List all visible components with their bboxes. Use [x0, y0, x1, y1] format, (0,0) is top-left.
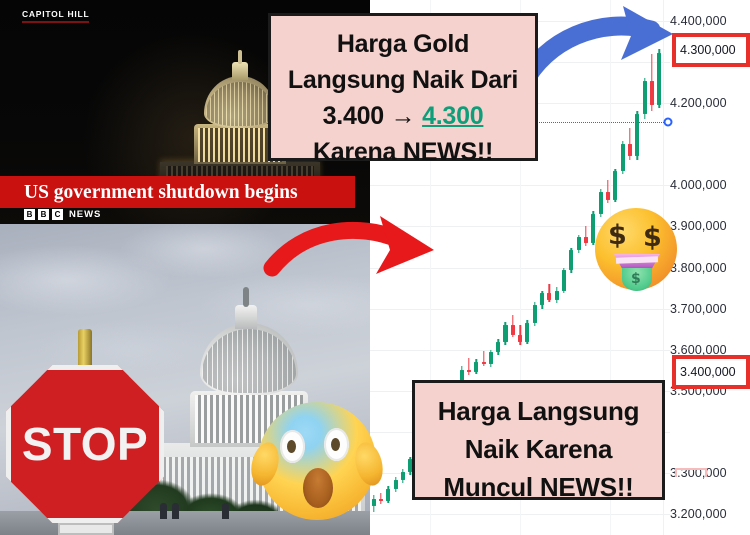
bottom-callout-box: Harga Langsung Naik Karena Muncul NEWS!!: [412, 380, 665, 500]
candle-body: [547, 293, 551, 300]
candle: [474, 359, 478, 375]
candle-body: [533, 305, 537, 323]
y-axis-tick-label: 3.900,000: [670, 219, 727, 233]
candle-body: [394, 480, 398, 489]
candle: [628, 128, 632, 161]
candle: [621, 141, 625, 175]
bbc-letter-b1: B: [24, 209, 35, 220]
bbc-letter-b2: B: [38, 209, 49, 220]
highlight-box-3400[interactable]: 3.400,000: [672, 355, 750, 389]
candle-body: [606, 192, 610, 200]
candle-body: [489, 352, 493, 364]
candle: [518, 325, 522, 345]
candle-body: [525, 323, 529, 342]
stop-sign: STOP: [6, 329, 164, 529]
candle-body: [613, 171, 617, 200]
candle: [401, 469, 405, 483]
stop-sign-base: [58, 523, 114, 535]
candle-body: [628, 144, 632, 156]
price-to: 4.300: [422, 102, 483, 130]
candle: [511, 315, 515, 337]
candle-body: [584, 237, 588, 243]
highlight-box-4300[interactable]: 4.300,000: [672, 33, 750, 67]
bbc-news-word: NEWS: [69, 209, 101, 220]
candle: [503, 322, 507, 345]
candle-body: [503, 325, 507, 341]
candle: [540, 291, 544, 309]
candle-body: [643, 81, 647, 114]
candle: [562, 268, 566, 294]
news-headline: US government shutdown begins: [24, 180, 354, 206]
bottom-callout-line3: Muncul NEWS!!: [421, 468, 656, 506]
candle-body: [474, 362, 478, 372]
poster-canvas: CAPITOL HILL US government shutdown begi…: [0, 0, 750, 535]
candle: [496, 339, 500, 355]
candle: [533, 302, 537, 326]
location-tag: CAPITOL HILL: [22, 9, 89, 23]
candle: [467, 358, 471, 375]
candle-body: [467, 370, 471, 372]
candle: [386, 486, 390, 502]
candle-body: [518, 335, 522, 342]
candle: [584, 226, 588, 247]
candle: [555, 287, 559, 303]
candle-body: [496, 342, 500, 353]
candle-body: [650, 81, 654, 104]
candle: [482, 351, 486, 366]
candle-body: [379, 499, 383, 501]
bbc-letter-c: C: [52, 209, 63, 220]
top-callout-line3: 3.400 → 4.300: [279, 98, 527, 134]
y-axis-tick-label: 4.200,000: [670, 96, 727, 110]
y-axis-tick-label: 3.700,000: [670, 302, 727, 316]
y-axis-tick-label: 3.800,000: [670, 261, 727, 275]
candle-body: [386, 489, 390, 501]
price-from: 3.400: [323, 102, 391, 130]
candle-body: [657, 53, 661, 105]
top-callout-line2: Langsung Naik Dari: [279, 62, 527, 98]
candle: [606, 180, 610, 203]
candle-body: [511, 325, 515, 335]
price-marker-dot-right[interactable]: [664, 118, 673, 127]
top-callout-box: Harga Gold Langsung Naik Dari 3.400 → 4.…: [268, 13, 538, 161]
candle: [489, 350, 493, 367]
candle-wick: [483, 351, 484, 366]
candle-wick: [468, 358, 469, 375]
candle: [379, 493, 383, 504]
candle-body: [401, 472, 405, 479]
candle-wick: [585, 226, 586, 247]
candle: [547, 284, 551, 302]
candle-body: [577, 237, 581, 250]
top-callout-line1: Harga Gold: [279, 26, 527, 62]
time-range-bracket: [675, 468, 707, 477]
bbc-news-logo: B B C NEWS: [24, 209, 101, 220]
candle: [613, 169, 617, 203]
candle-body: [635, 114, 639, 156]
candle: [525, 320, 529, 344]
candle: [394, 477, 398, 492]
candle-body: [562, 270, 566, 291]
bottom-callout-line1: Harga Langsung: [421, 392, 656, 430]
top-callout-line4: Karena NEWS!!: [279, 134, 527, 170]
candle: [643, 78, 647, 119]
candle-body: [482, 362, 486, 364]
face-screaming-in-fear-emoji: [258, 402, 376, 520]
candle-body: [540, 293, 544, 305]
money-mouth-face-emoji: $ $ $: [595, 208, 677, 290]
arrow-glyph: →: [391, 102, 422, 130]
bottom-callout-line2: Naik Karena: [421, 430, 656, 468]
y-axis-tick-label: 4.400,000: [670, 14, 727, 28]
y-axis-tick-label: 4.000,000: [670, 178, 727, 192]
candle: [577, 235, 581, 254]
candle-body: [621, 144, 625, 171]
candle-body: [569, 250, 573, 270]
candle: [569, 248, 573, 274]
stop-sign-label: STOP: [6, 365, 164, 523]
candle-body: [555, 291, 559, 300]
candle: [650, 54, 654, 112]
candle: [657, 49, 661, 107]
candle: [635, 111, 639, 160]
y-axis-tick-label: 3.200,000: [670, 507, 727, 521]
